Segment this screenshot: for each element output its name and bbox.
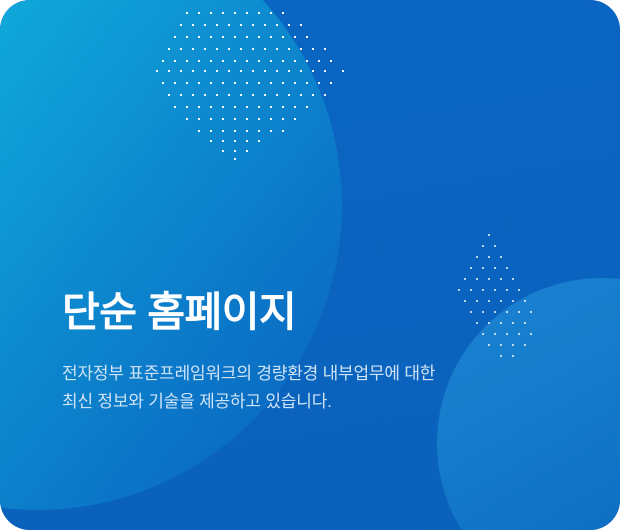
hero-subtitle: 전자정부 표준프레임워크의 경량환경 내부업무에 대한 최신 정보와 기술을 제… bbox=[62, 360, 572, 415]
hero-banner: 단순 홈페이지 전자정부 표준프레임워크의 경량환경 내부업무에 대한 최신 정… bbox=[0, 0, 620, 530]
hero-copy-block: 단순 홈페이지 전자정부 표준프레임워크의 경량환경 내부업무에 대한 최신 정… bbox=[62, 288, 572, 415]
page-title: 단순 홈페이지 bbox=[62, 288, 572, 336]
